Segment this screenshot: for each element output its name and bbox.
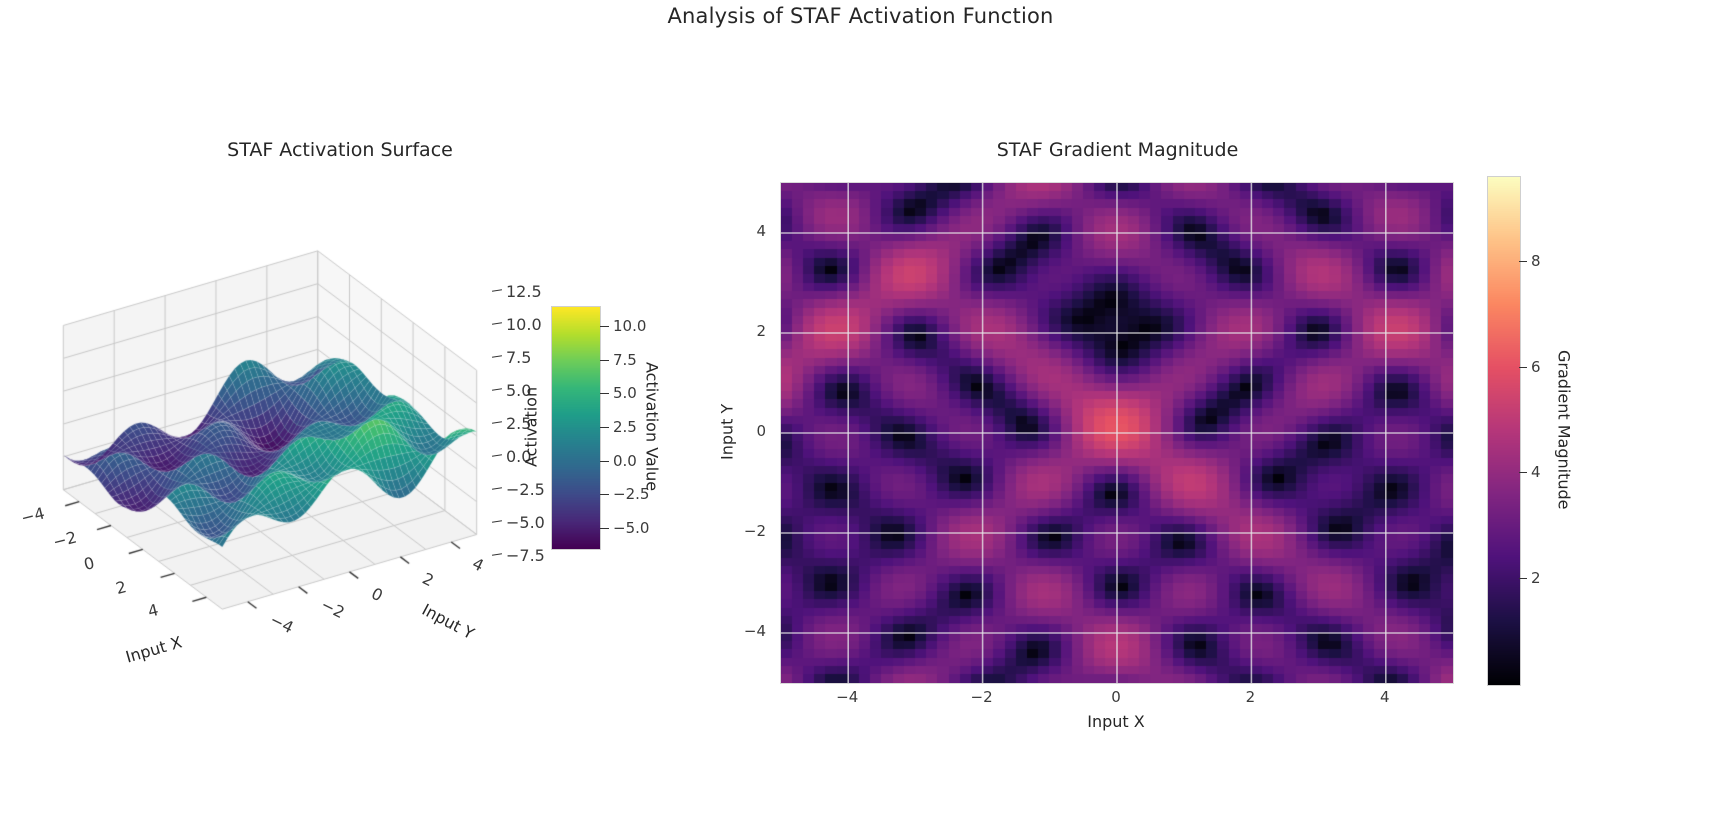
heatmap-x-tick: −4: [836, 688, 858, 706]
gradient-colorbar-label: Gradient Magnitude: [1552, 176, 1576, 684]
heatmap-x-axis-label: Input X: [780, 712, 1452, 731]
gradient-heatmap-canvas: [781, 183, 1453, 683]
figure-suptitle: Analysis of STAF Activation Function: [0, 4, 1721, 28]
surface-z-tick: −7.5: [506, 546, 545, 565]
activation-colorbar: [551, 306, 601, 550]
surface-plot-axes: [20, 180, 540, 680]
surface-3d-canvas: [20, 180, 540, 680]
activation-colorbar-tick: 0.0: [600, 452, 637, 470]
heatmap-x-tick: 0: [1111, 688, 1121, 706]
heatmap-x-tick: −2: [971, 688, 993, 706]
gradient-colorbar-tick: 6: [1519, 358, 1541, 376]
figure-canvas: Analysis of STAF Activation Function STA…: [0, 0, 1721, 814]
surface-z-axis-label: Activation: [519, 306, 543, 548]
surface-z-tick: 12.5: [506, 282, 542, 301]
heatmap-x-tick: 4: [1380, 688, 1390, 706]
activation-colorbar-tick: 2.5: [600, 418, 637, 436]
heatmap-y-axis-label: Input Y: [716, 182, 738, 682]
gradient-colorbar-tick: 8: [1519, 252, 1541, 270]
heatmap-plot-title: STAF Gradient Magnitude: [790, 139, 1445, 161]
gradient-colorbar-gradient: [1488, 177, 1520, 685]
surface-plot-title: STAF Activation Surface: [40, 139, 640, 161]
gradient-heatmap-axes: [780, 182, 1454, 684]
heatmap-x-tick: 2: [1246, 688, 1256, 706]
activation-colorbar-gradient: [552, 307, 600, 549]
gradient-colorbar-tick: 2: [1519, 569, 1541, 587]
gradient-colorbar: [1487, 176, 1521, 686]
activation-colorbar-label: Activation Value: [640, 306, 664, 548]
activation-colorbar-tick: 7.5: [600, 351, 637, 369]
activation-colorbar-tick: 5.0: [600, 384, 637, 402]
gradient-colorbar-tick: 4: [1519, 463, 1541, 481]
